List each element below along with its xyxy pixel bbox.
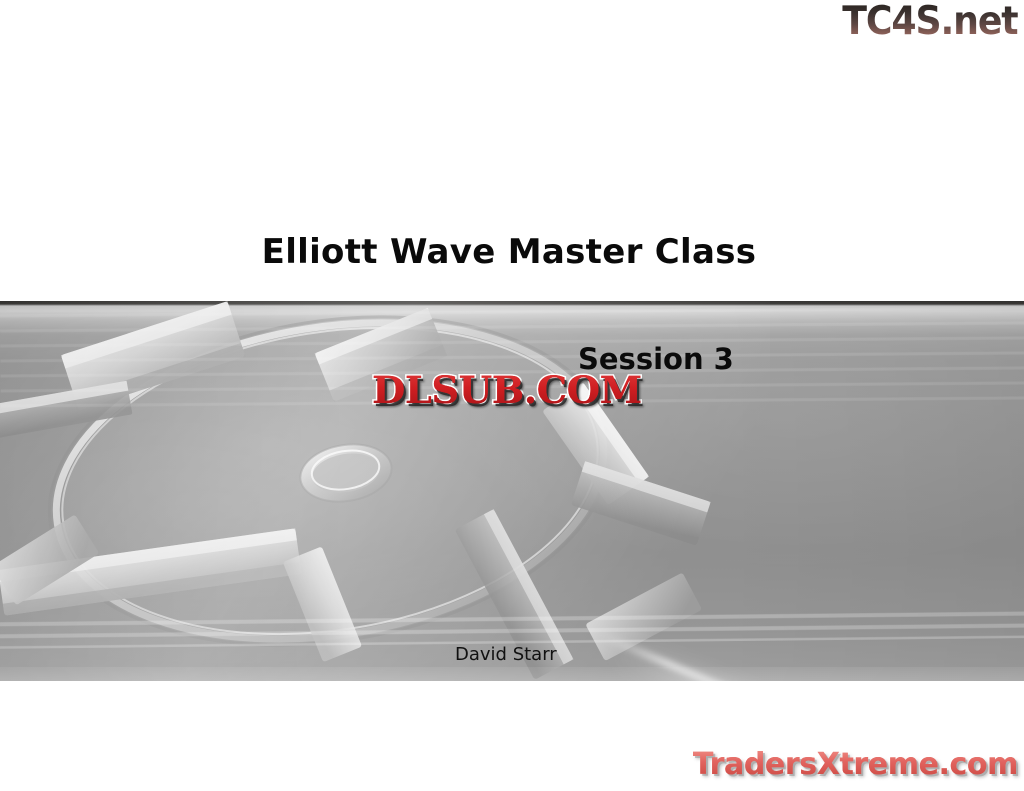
tradersxtreme-logo[interactable]: TradersXtreme.com TradersXtreme.com bbox=[693, 748, 1018, 782]
presentation-slide: TC4S.net Elliott Wave Master Class bbox=[0, 0, 1024, 791]
presenter-name: David Starr bbox=[455, 644, 557, 665]
banner-bottom-stripes bbox=[0, 608, 1024, 649]
dlsub-watermark-fill: DLSUB.COM bbox=[372, 368, 642, 412]
banner-flare-glow bbox=[605, 634, 1024, 681]
page-title: Elliott Wave Master Class bbox=[0, 232, 1024, 272]
banner-bottom-edge bbox=[0, 667, 1024, 681]
dlsub-watermark: DLSUB.COM DLSUB.COM bbox=[372, 368, 642, 412]
banner-light-streak bbox=[598, 631, 1024, 681]
banner-graphic bbox=[0, 301, 1024, 681]
tc4s-logo[interactable]: TC4S.net bbox=[843, 2, 1018, 42]
tradersxtreme-logo-fill: TradersXtreme.com bbox=[693, 748, 1018, 782]
banner-vignette bbox=[0, 301, 1024, 681]
